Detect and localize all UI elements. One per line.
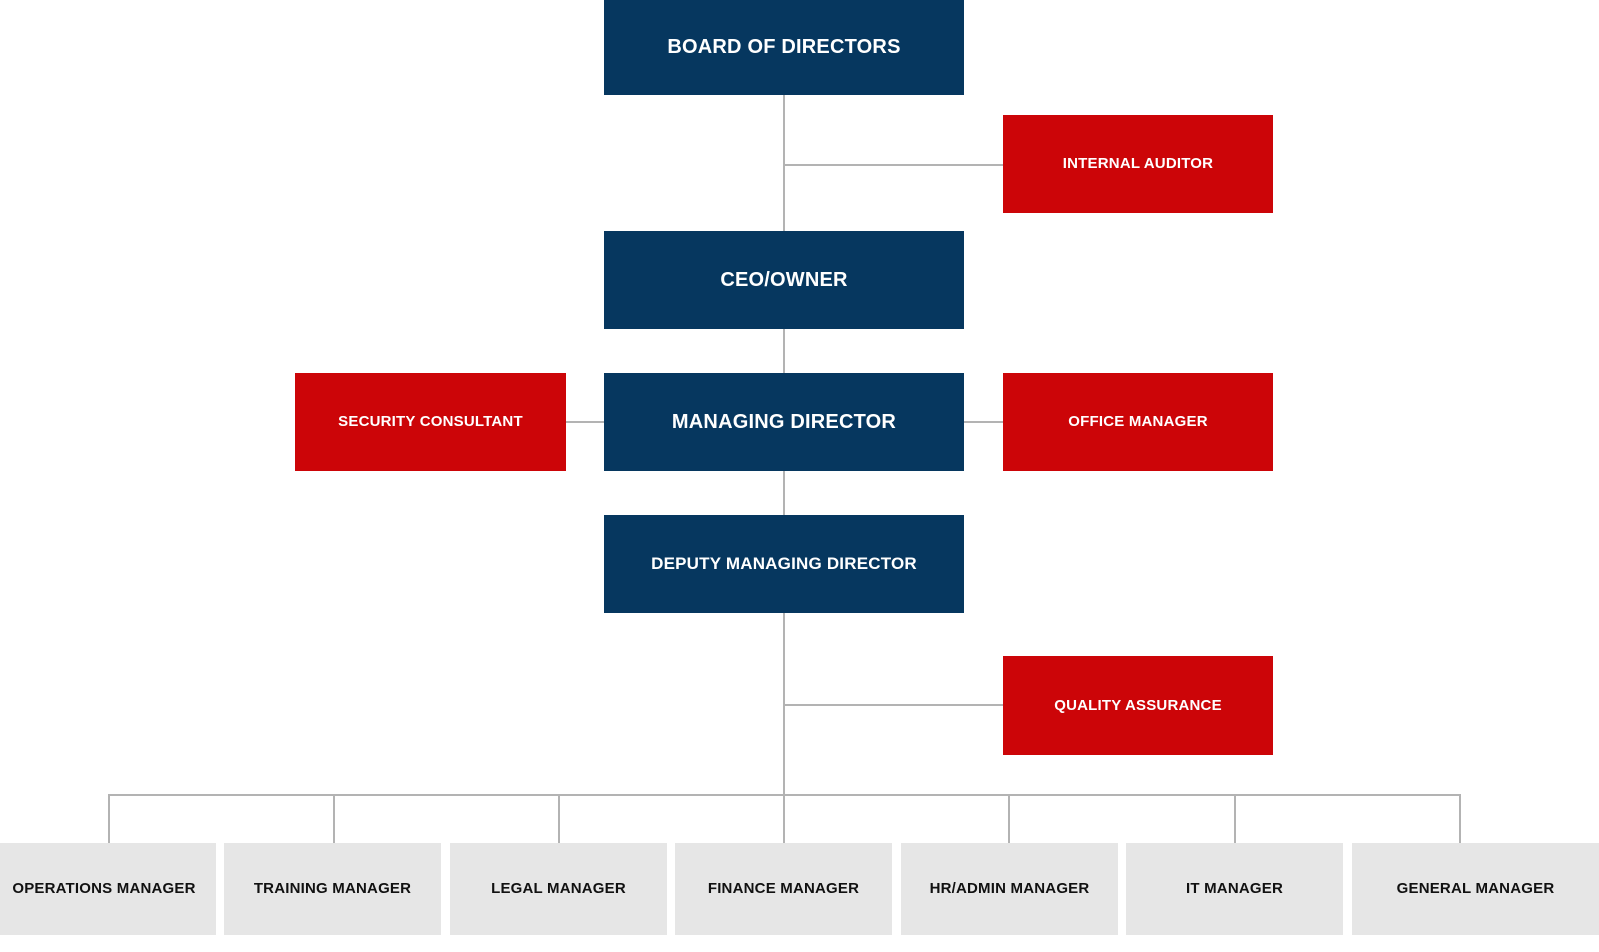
node-internal-auditor[interactable]: INTERNAL AUDITOR <box>1003 115 1273 213</box>
node-label-hr-admin-manager: HR/ADMIN MANAGER <box>930 880 1090 897</box>
node-board-of-directors[interactable]: BOARD OF DIRECTORS <box>604 0 964 95</box>
node-label-legal-manager: LEGAL MANAGER <box>491 880 626 897</box>
node-training-manager[interactable]: TRAINING MANAGER <box>224 843 441 935</box>
drop-line-operations <box>108 794 110 844</box>
drop-line-it <box>1234 794 1236 844</box>
node-operations-manager[interactable]: OPERATIONS MANAGER <box>0 843 216 935</box>
node-label-training-manager: TRAINING MANAGER <box>254 880 411 897</box>
node-security-consultant[interactable]: SECURITY CONSULTANT <box>295 373 566 471</box>
connector-spine-to-quality-assurance <box>783 704 1003 706</box>
node-label-finance-manager: FINANCE MANAGER <box>708 880 859 897</box>
connector-managing-director-to-office-manager <box>964 421 1003 423</box>
drop-line-finance <box>783 794 785 844</box>
node-deputy-managing-director[interactable]: DEPUTY MANAGING DIRECTOR <box>604 515 964 613</box>
drop-line-legal <box>558 794 560 844</box>
node-office-manager[interactable]: OFFICE MANAGER <box>1003 373 1273 471</box>
node-label-ceo-owner: CEO/OWNER <box>720 269 847 292</box>
node-general-manager[interactable]: GENERAL MANAGER <box>1352 843 1599 935</box>
drop-line-training <box>333 794 335 844</box>
connector-managing-director-to-deputy <box>783 471 785 515</box>
node-legal-manager[interactable]: LEGAL MANAGER <box>450 843 667 935</box>
connector-spine-to-internal-auditor <box>783 164 1003 166</box>
node-label-office-manager: OFFICE MANAGER <box>1068 413 1207 430</box>
node-label-general-manager: GENERAL MANAGER <box>1397 880 1555 897</box>
drop-line-general <box>1459 794 1461 844</box>
node-managing-director[interactable]: MANAGING DIRECTOR <box>604 373 964 471</box>
node-it-manager[interactable]: IT MANAGER <box>1126 843 1343 935</box>
node-quality-assurance[interactable]: QUALITY ASSURANCE <box>1003 656 1273 755</box>
node-hr-admin-manager[interactable]: HR/ADMIN MANAGER <box>901 843 1118 935</box>
node-label-quality-assurance: QUALITY ASSURANCE <box>1054 697 1222 714</box>
org-chart-canvas: BOARD OF DIRECTORS INTERNAL AUDITOR CEO/… <box>0 0 1599 952</box>
node-label-board-of-directors: BOARD OF DIRECTORS <box>667 36 900 59</box>
node-label-it-manager: IT MANAGER <box>1186 880 1283 897</box>
node-label-security-consultant: SECURITY CONSULTANT <box>338 413 523 430</box>
node-label-operations-manager: OPERATIONS MANAGER <box>12 880 195 897</box>
drop-line-hradmin <box>1008 794 1010 844</box>
node-label-internal-auditor: INTERNAL AUDITOR <box>1063 155 1213 172</box>
node-label-managing-director: MANAGING DIRECTOR <box>672 411 896 434</box>
connector-board-to-ceo <box>783 95 785 231</box>
connector-ceo-to-managing-director <box>783 329 785 373</box>
connector-managing-director-to-security-consultant <box>566 421 604 423</box>
node-finance-manager[interactable]: FINANCE MANAGER <box>675 843 892 935</box>
node-label-deputy-managing-director: DEPUTY MANAGING DIRECTOR <box>651 554 917 574</box>
node-ceo-owner[interactable]: CEO/OWNER <box>604 231 964 329</box>
